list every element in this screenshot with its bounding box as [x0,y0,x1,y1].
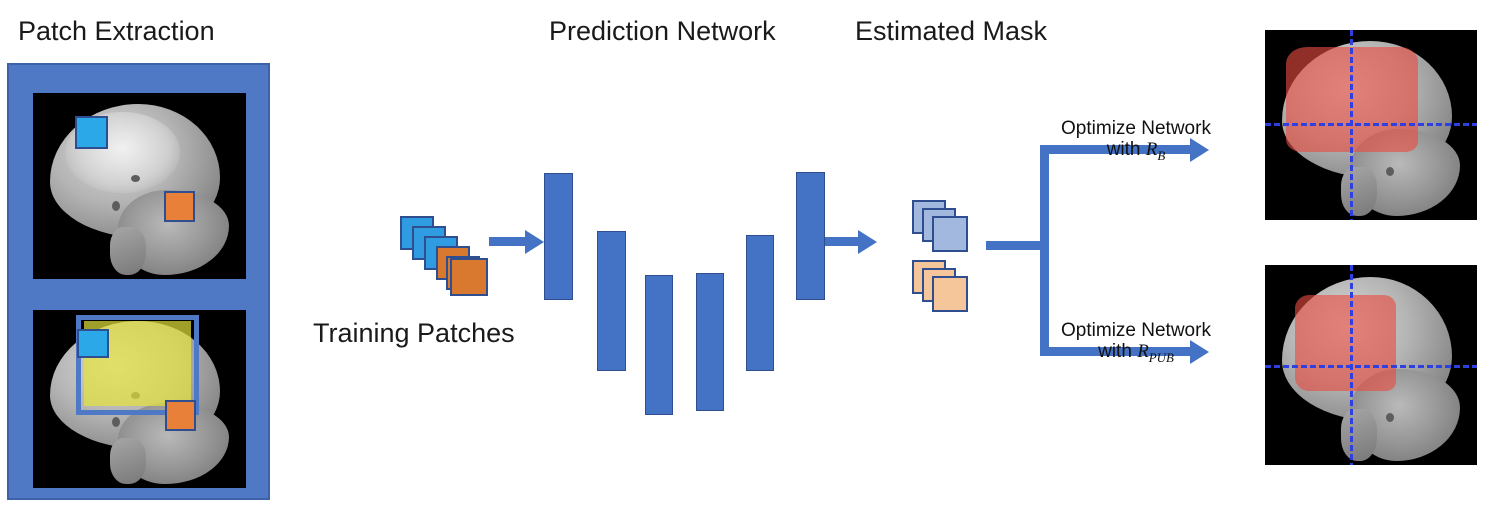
predicted-tumor-mask [1295,295,1397,391]
patch-marker-orange [164,191,195,222]
branch-caption-rpub-line2: with RPUB [1098,341,1174,362]
network-layer-bar [746,235,774,371]
branch-stem [986,241,1046,250]
branch-caption-rb-line2: with RB [1107,139,1166,160]
crosshair-horizontal [1265,365,1477,368]
ventricle-spot [112,201,120,211]
input-mri-slice-labeled [33,310,246,488]
network-layer-bar [796,172,825,300]
brainstem-region [1341,409,1377,461]
result-mri-rb [1265,30,1477,220]
patch-marker-orange [165,400,196,431]
page-title-patch-extraction: Patch Extraction [18,16,215,47]
page-title-estimated-mask: Estimated Mask [855,16,1047,47]
estimated-mask-patch-orange [932,276,968,312]
page-title-prediction-network: Prediction Network [549,16,776,47]
brainstem-region [1341,167,1377,216]
crosshair-vertical [1350,265,1353,465]
branch-caption-rb-line1: Optimize Network [1061,118,1211,139]
ventricle-spot [1386,167,1394,176]
ventricle-spot [112,417,120,427]
patch-marker-blue [77,329,109,358]
result-mri-rpub [1265,265,1477,465]
training-patch-orange [450,258,488,296]
ventricle-spot [1386,413,1394,422]
label-training-patches: Training Patches [313,318,515,349]
ventricle-spot [131,175,140,182]
branch-caption-rb: Optimize Network with RB [1038,119,1234,162]
patch-marker-blue [75,116,108,149]
brainstem-region [110,438,146,484]
network-layer-bar [645,275,673,415]
input-mri-slice-raw [33,93,246,279]
network-layer-bar [597,231,626,371]
branch-caption-rpub-line1: Optimize Network [1061,320,1211,341]
estimated-mask-patch-blue [932,216,968,252]
brainstem-region [110,227,146,275]
crosshair-horizontal [1265,123,1477,126]
network-layer-bar [544,173,573,300]
patch-extraction-panel [7,63,270,500]
branch-caption-rpub: Optimize Network with RPUB [1038,321,1234,364]
network-layer-bar [696,273,724,411]
crosshair-vertical [1350,30,1353,220]
